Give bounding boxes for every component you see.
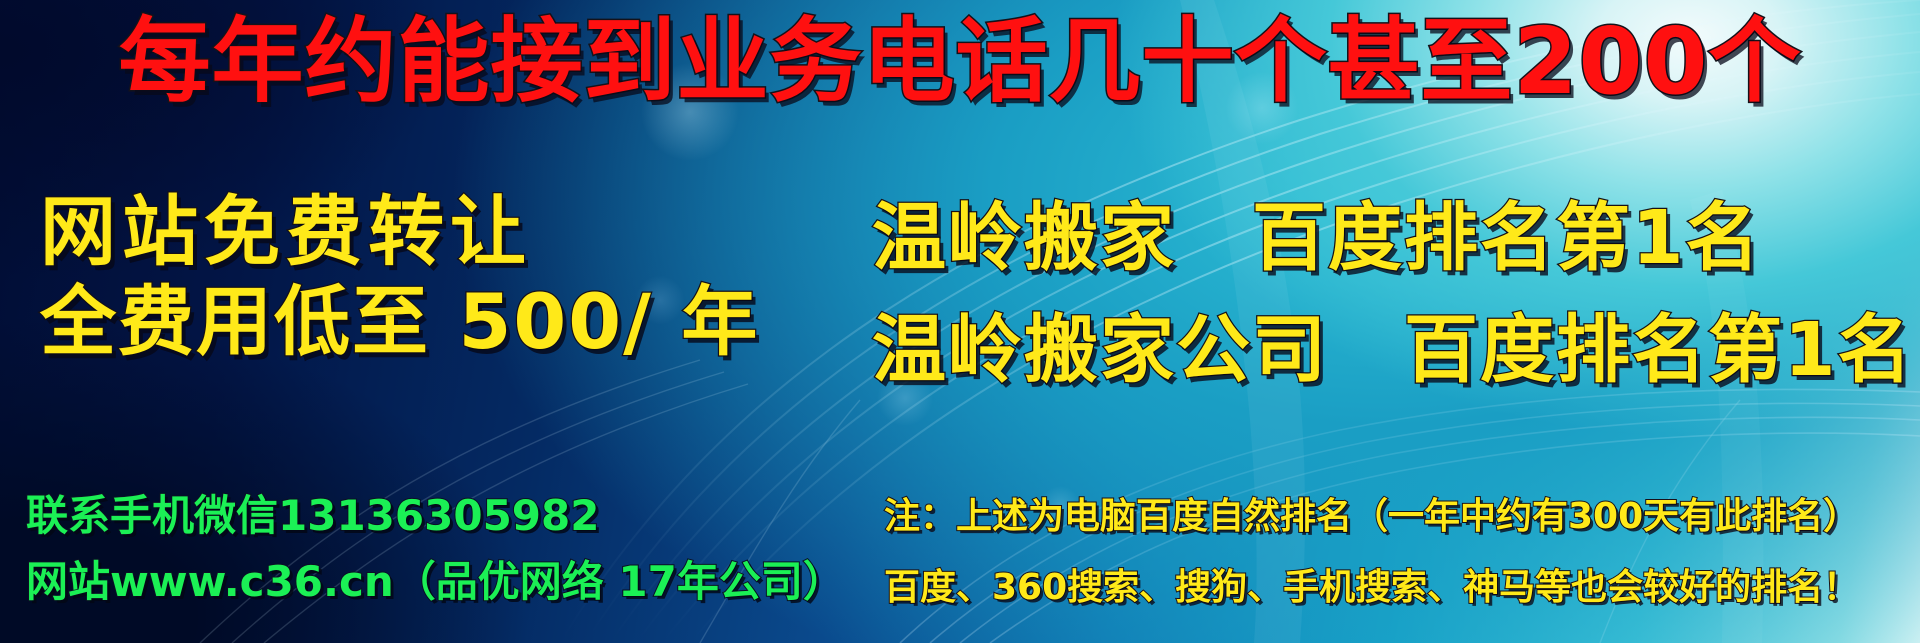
ranking-line-2: 温岭搬家公司 百度排名第1名	[872, 290, 1914, 397]
note-line-2: 百度、360搜索、搜狗、手机搜索、神马等也会较好的排名！	[884, 558, 1859, 610]
note-line-1: 注：上述为电脑百度自然排名（一年中约有300天有此排名）	[884, 487, 1859, 539]
banner-text-layer: 每年约能接到业务电话几十个甚至200个 网站免费转让 全费用低至 500/ 年 …	[0, 0, 1920, 643]
contact-phone-text: 联系手机微信13136305982	[26, 482, 599, 543]
promo-banner: 每年约能接到业务电话几十个甚至200个 网站免费转让 全费用低至 500/ 年 …	[0, 0, 1920, 643]
headline-text: 每年约能接到业务电话几十个甚至200个	[0, 16, 1920, 108]
ranking-line-1: 温岭搬家 百度排名第1名	[872, 178, 1762, 285]
contact-website-text: 网站www.c36.cn（品优网络 17年公司）	[26, 548, 845, 609]
offer-line-2: 全费用低至 500/ 年	[40, 260, 759, 370]
